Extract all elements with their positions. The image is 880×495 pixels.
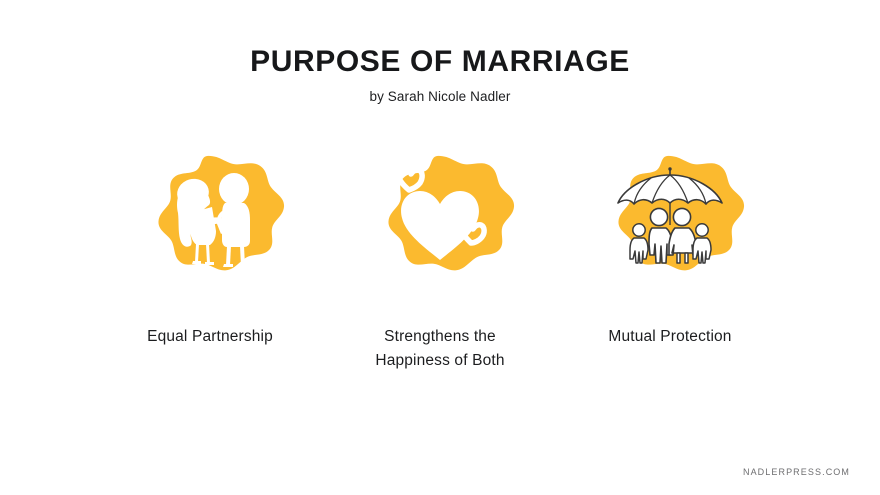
page-subtitle: by Sarah Nicole Nadler [0, 88, 880, 106]
card-strengthens-happiness: Strengthens the Happiness of Both [340, 145, 540, 373]
page-title: PURPOSE OF MARRIAGE [0, 44, 880, 80]
cards-row: Equal Partnership [110, 145, 770, 373]
card-label-strengthens-happiness: Strengthens the Happiness of Both [375, 325, 504, 373]
header: PURPOSE OF MARRIAGE by Sarah Nicole Nadl… [0, 44, 880, 106]
card-equal-partnership: Equal Partnership [110, 145, 310, 349]
footer-site-url: NADLERPRESS.COM [743, 467, 850, 477]
badge-equal-partnership [136, 145, 284, 295]
badge-strengthens-happiness [366, 145, 514, 295]
infographic-canvas: PURPOSE OF MARRIAGE by Sarah Nicole Nadl… [0, 0, 880, 495]
card-mutual-protection: Mutual Protection [570, 145, 770, 349]
card-label-equal-partnership: Equal Partnership [147, 325, 273, 349]
card-label-mutual-protection: Mutual Protection [608, 325, 731, 349]
badge-mutual-protection [596, 145, 744, 295]
